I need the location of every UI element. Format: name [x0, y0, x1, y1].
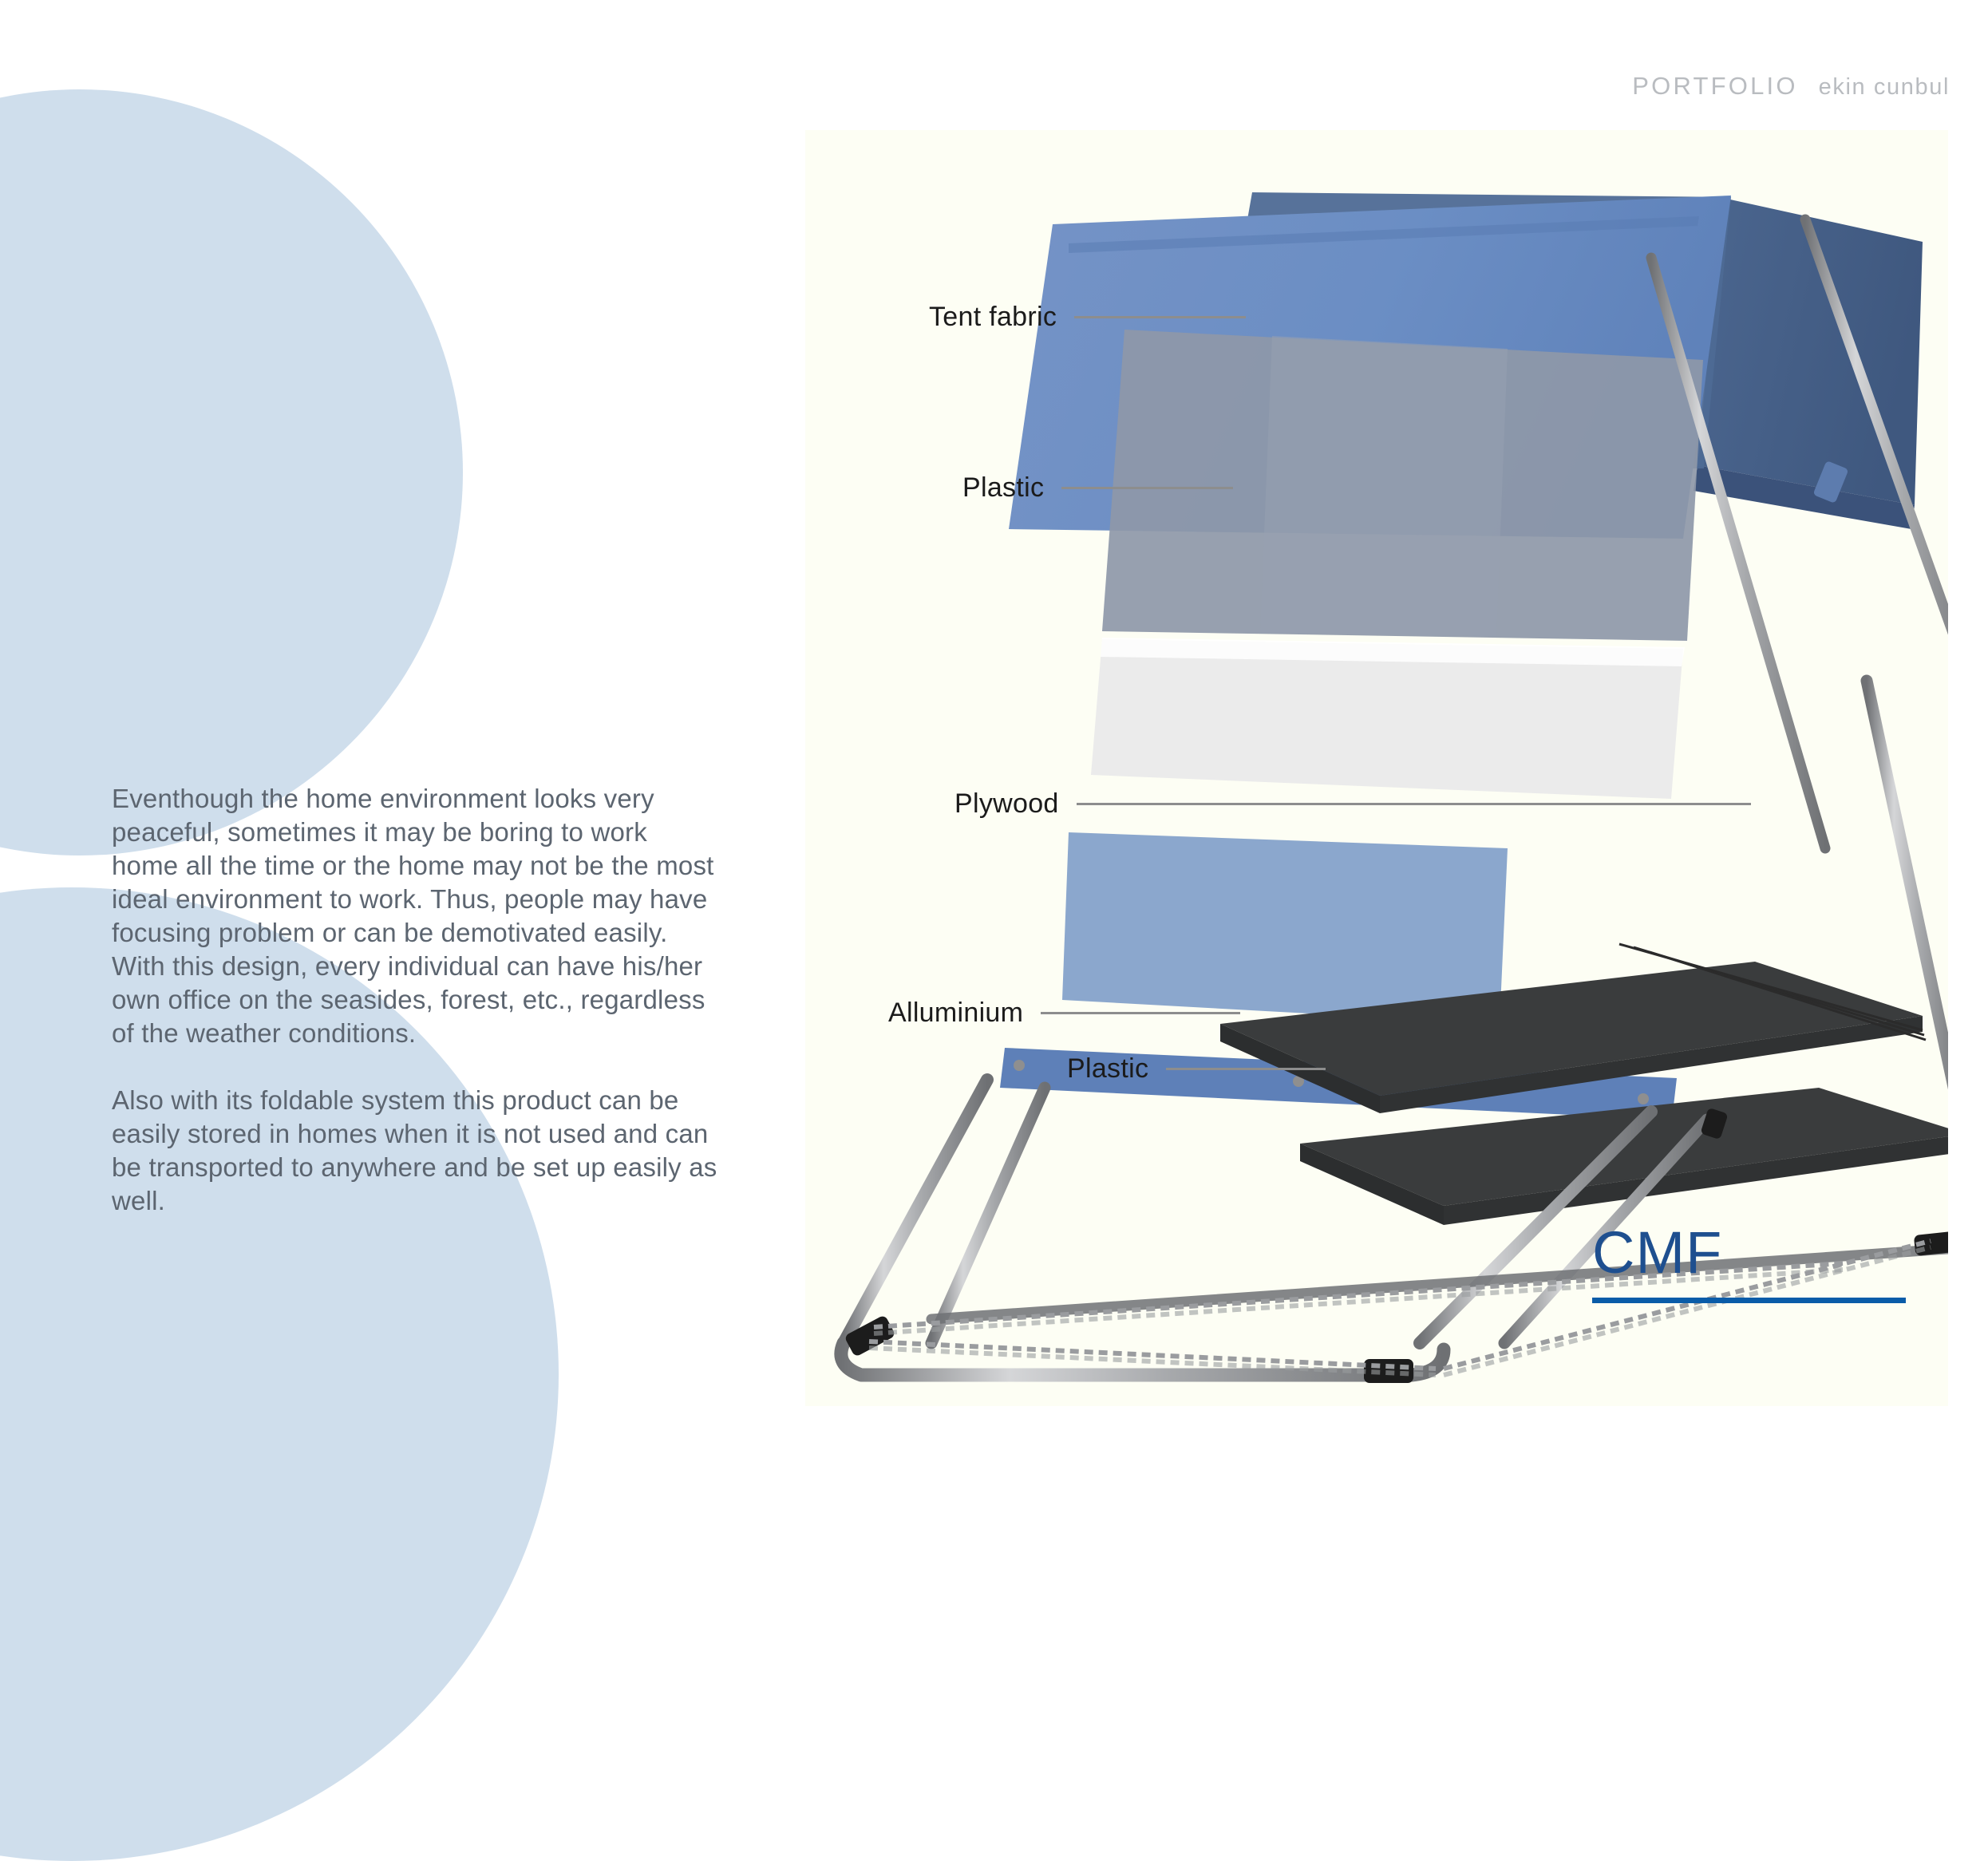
leader-line [1041, 1012, 1240, 1014]
callout-label: Plastic [962, 472, 1044, 504]
leader-line [1074, 316, 1246, 318]
leader-line [1061, 487, 1233, 489]
leader-line [1077, 803, 1751, 805]
body-paragraph-1: Eventhough the home environment looks ve… [112, 782, 718, 1050]
frame-leg-left-front [844, 1080, 987, 1343]
decorative-circle-top [0, 89, 463, 855]
callout-plastic-window: Plastic [962, 472, 1233, 504]
body-paragraph-2: Also with its foldable system this produ… [112, 1084, 718, 1218]
frame-leg-right-rear [1867, 681, 1948, 1136]
page-header: PORTFOLIO ekin cunbul [1632, 72, 1950, 101]
portfolio-label: PORTFOLIO [1632, 72, 1797, 101]
leader-line [1166, 1068, 1326, 1070]
eyelet-left [1014, 1060, 1025, 1071]
callout-label: Plywood [954, 788, 1059, 820]
body-copy: Eventhough the home environment looks ve… [112, 782, 718, 1218]
callout-plastic-foot: Plastic [1067, 1053, 1326, 1085]
frame-leg-left-rear [931, 1088, 1045, 1343]
callout-label: Alluminium [888, 998, 1023, 1029]
callout-alluminium: Alluminium [888, 998, 1240, 1029]
section-title: CMF [1592, 1219, 1911, 1286]
eyelet-right [1638, 1093, 1649, 1104]
section-title-block: CMF [1592, 1219, 1911, 1303]
callout-label: Tent fabric [929, 302, 1057, 333]
callout-plywood: Plywood [954, 788, 1751, 820]
callout-label: Plastic [1067, 1053, 1148, 1085]
callout-tent-fabric: Tent fabric [929, 302, 1246, 333]
section-title-rule [1592, 1298, 1906, 1303]
author-name: ekin cunbul [1819, 74, 1950, 101]
